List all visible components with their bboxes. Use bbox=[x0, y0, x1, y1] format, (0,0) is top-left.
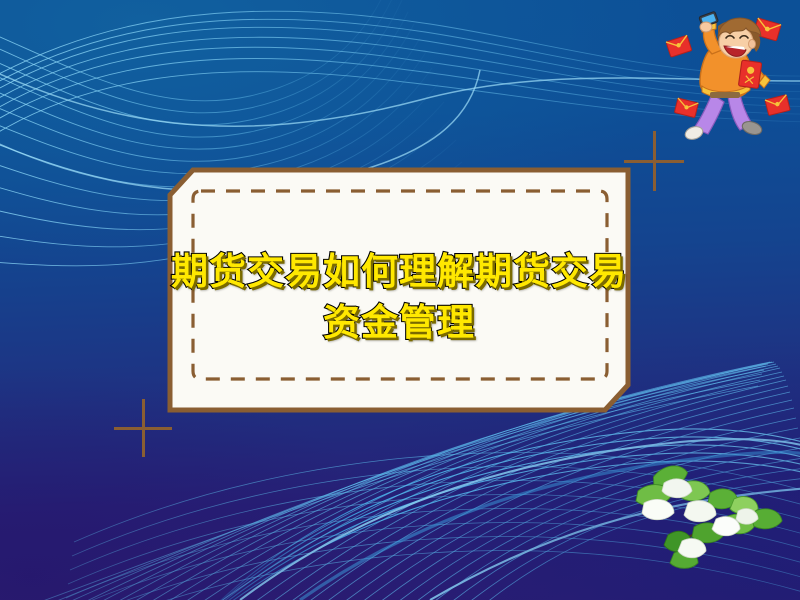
boy-legs bbox=[684, 94, 764, 141]
title-text-block: 期货交易如何理解期货交易 资金管理 bbox=[167, 167, 631, 413]
title-card: 期货交易如何理解期货交易 资金管理 bbox=[167, 167, 631, 413]
red-envelope-held-icon bbox=[738, 60, 761, 89]
boy-head bbox=[718, 18, 761, 58]
green-leaves-branch-icon bbox=[630, 455, 800, 590]
slide-title-line-1: 期货交易如何理解期货交易 bbox=[171, 247, 627, 296]
slide-canvas: 期货交易如何理解期货交易 资金管理 bbox=[0, 0, 800, 600]
cross-icon bbox=[114, 399, 172, 457]
jumping-boy-with-phone-and-red-envelopes-icon bbox=[660, 8, 800, 148]
slide-title-line-2: 资金管理 bbox=[323, 298, 475, 347]
leaf-icon bbox=[636, 463, 782, 569]
